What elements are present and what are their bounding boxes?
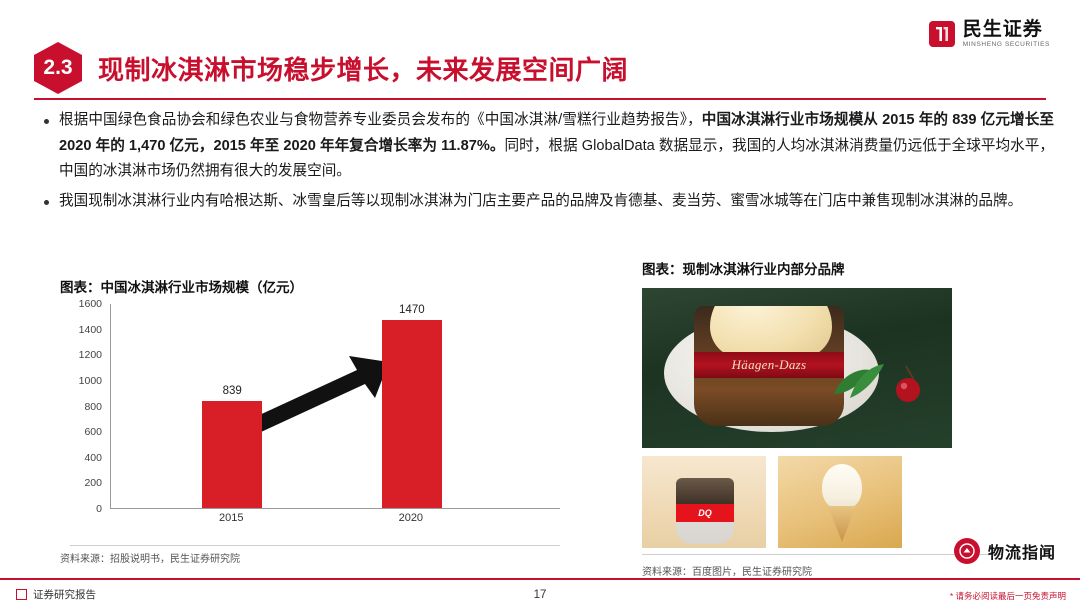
- dq-brand-text: DQ: [676, 504, 734, 522]
- footer-disclaimer: * 请务必阅读最后一页免责声明: [950, 590, 1066, 602]
- dq-topping: [676, 478, 734, 504]
- text-run: 根据中国绿色食品协会和绿色农业与食物营养专业委员会发布的《中国冰淇淋/雪糕行业趋…: [59, 112, 702, 128]
- logo-text-en: MINSHENG SECURITIES: [963, 42, 1050, 49]
- y-tick-label: 600: [84, 426, 102, 438]
- section-number-badge: 2.3: [34, 42, 82, 94]
- y-tick-label: 1400: [79, 324, 102, 336]
- bar-chart: 02004006008001000120014001600 8391470 20…: [60, 304, 560, 544]
- bar-2015: [202, 401, 262, 508]
- bullet-item: 我国现制冰淇淋行业内有哈根达斯、冰雪皇后等以现制冰淇淋为门店主要产品的品牌及肯德…: [44, 189, 1054, 215]
- logo-text-cn: 民生证券: [963, 20, 1050, 39]
- y-tick-label: 1000: [79, 375, 102, 387]
- cup-brand-text: Häagen-Dazs: [732, 357, 807, 373]
- body-bullets: 根据中国绿色食品协会和绿色农业与食物营养专业委员会发布的《中国冰淇淋/雪糕行业趋…: [44, 108, 1054, 218]
- photo-row: DQ: [642, 456, 1022, 548]
- logo-mark-icon: [929, 21, 955, 47]
- plot-area: 8391470: [110, 304, 560, 509]
- text-run: 我国现制冰淇淋行业内有哈根达斯、冰雪皇后等以现制冰淇淋为门店主要产品的品牌及肯德…: [59, 193, 1022, 209]
- x-axis-labels: 20152020: [110, 512, 560, 532]
- soft-serve-swirl: [822, 464, 862, 510]
- image-figure-label: 图表：现制冰淇淋行业内部分品牌: [642, 258, 1022, 278]
- bullet-item: 根据中国绿色食品协会和绿色农业与食物营养专业委员会发布的《中国冰淇淋/雪糕行业趋…: [44, 108, 1054, 185]
- bullet-paragraph-1: 根据中国绿色食品协会和绿色农业与食物营养专业委员会发布的《中国冰淇淋/雪糕行业趋…: [59, 108, 1054, 185]
- bar-value-label: 1470: [372, 304, 452, 316]
- dairy-queen-photo: DQ: [642, 456, 766, 548]
- ice-cream-cup: Häagen-Dazs: [694, 306, 844, 426]
- title-divider: [34, 98, 1046, 100]
- y-tick-label: 0: [96, 503, 102, 515]
- chart-panel: 图表：中国冰淇淋行业市场规模（亿元） 020040060080010001200…: [60, 276, 580, 565]
- company-logo: 民生证券 MINSHENG SECURITIES: [929, 20, 1050, 49]
- y-tick-label: 200: [84, 477, 102, 489]
- y-tick-label: 1600: [79, 298, 102, 310]
- cherry-icon: [884, 362, 926, 404]
- bar-value-label: 839: [192, 385, 272, 397]
- y-axis-labels: 02004006008001000120014001600: [60, 304, 102, 509]
- haagen-dazs-photo: Häagen-Dazs: [642, 288, 952, 448]
- image-source: 资料来源：百度图片，民生证券研究院: [642, 563, 1022, 578]
- y-tick-label: 1200: [79, 349, 102, 361]
- watermark-text: 物流指闻: [988, 539, 1056, 563]
- bar-2020: [382, 320, 442, 508]
- page-title: 现制冰淇淋市场稳步增长，未来发展空间广阔: [98, 50, 628, 87]
- x-tick-label: 2020: [371, 512, 451, 524]
- bullet-dot-icon: [44, 119, 49, 124]
- cone-shape: [828, 506, 856, 542]
- mint-leaf-icon: [830, 354, 888, 400]
- cup-brand-band: Häagen-Dazs: [694, 352, 844, 378]
- y-tick-label: 800: [84, 401, 102, 413]
- watermark-logo-icon: [954, 538, 980, 564]
- ice-cream-scoop: [710, 306, 832, 358]
- soft-serve-photo: [778, 456, 902, 548]
- watermark: 物流指闻: [954, 538, 1056, 564]
- footer-bar: 证券研究报告 17 * 请务必阅读最后一页免责声明: [0, 578, 1080, 608]
- chart-source: 资料来源：招股说明书，民生证券研究院: [60, 550, 580, 565]
- y-tick-label: 400: [84, 452, 102, 464]
- slide-title-row: 2.3 现制冰淇淋市场稳步增长，未来发展空间广阔: [34, 42, 628, 94]
- chart-figure-label: 图表：中国冰淇淋行业市场规模（亿元）: [60, 276, 580, 296]
- image-panel: 图表：现制冰淇淋行业内部分品牌 Häagen-Dazs DQ: [642, 258, 1022, 578]
- page-number: 17: [0, 589, 1080, 601]
- dq-cup: DQ: [676, 478, 734, 544]
- bullet-dot-icon: [44, 200, 49, 205]
- x-tick-label: 2015: [191, 512, 271, 524]
- image-source-divider: [642, 554, 1002, 555]
- bullet-paragraph-2: 我国现制冰淇淋行业内有哈根达斯、冰雪皇后等以现制冰淇淋为门店主要产品的品牌及肯德…: [59, 189, 1022, 215]
- chart-source-divider: [70, 545, 560, 546]
